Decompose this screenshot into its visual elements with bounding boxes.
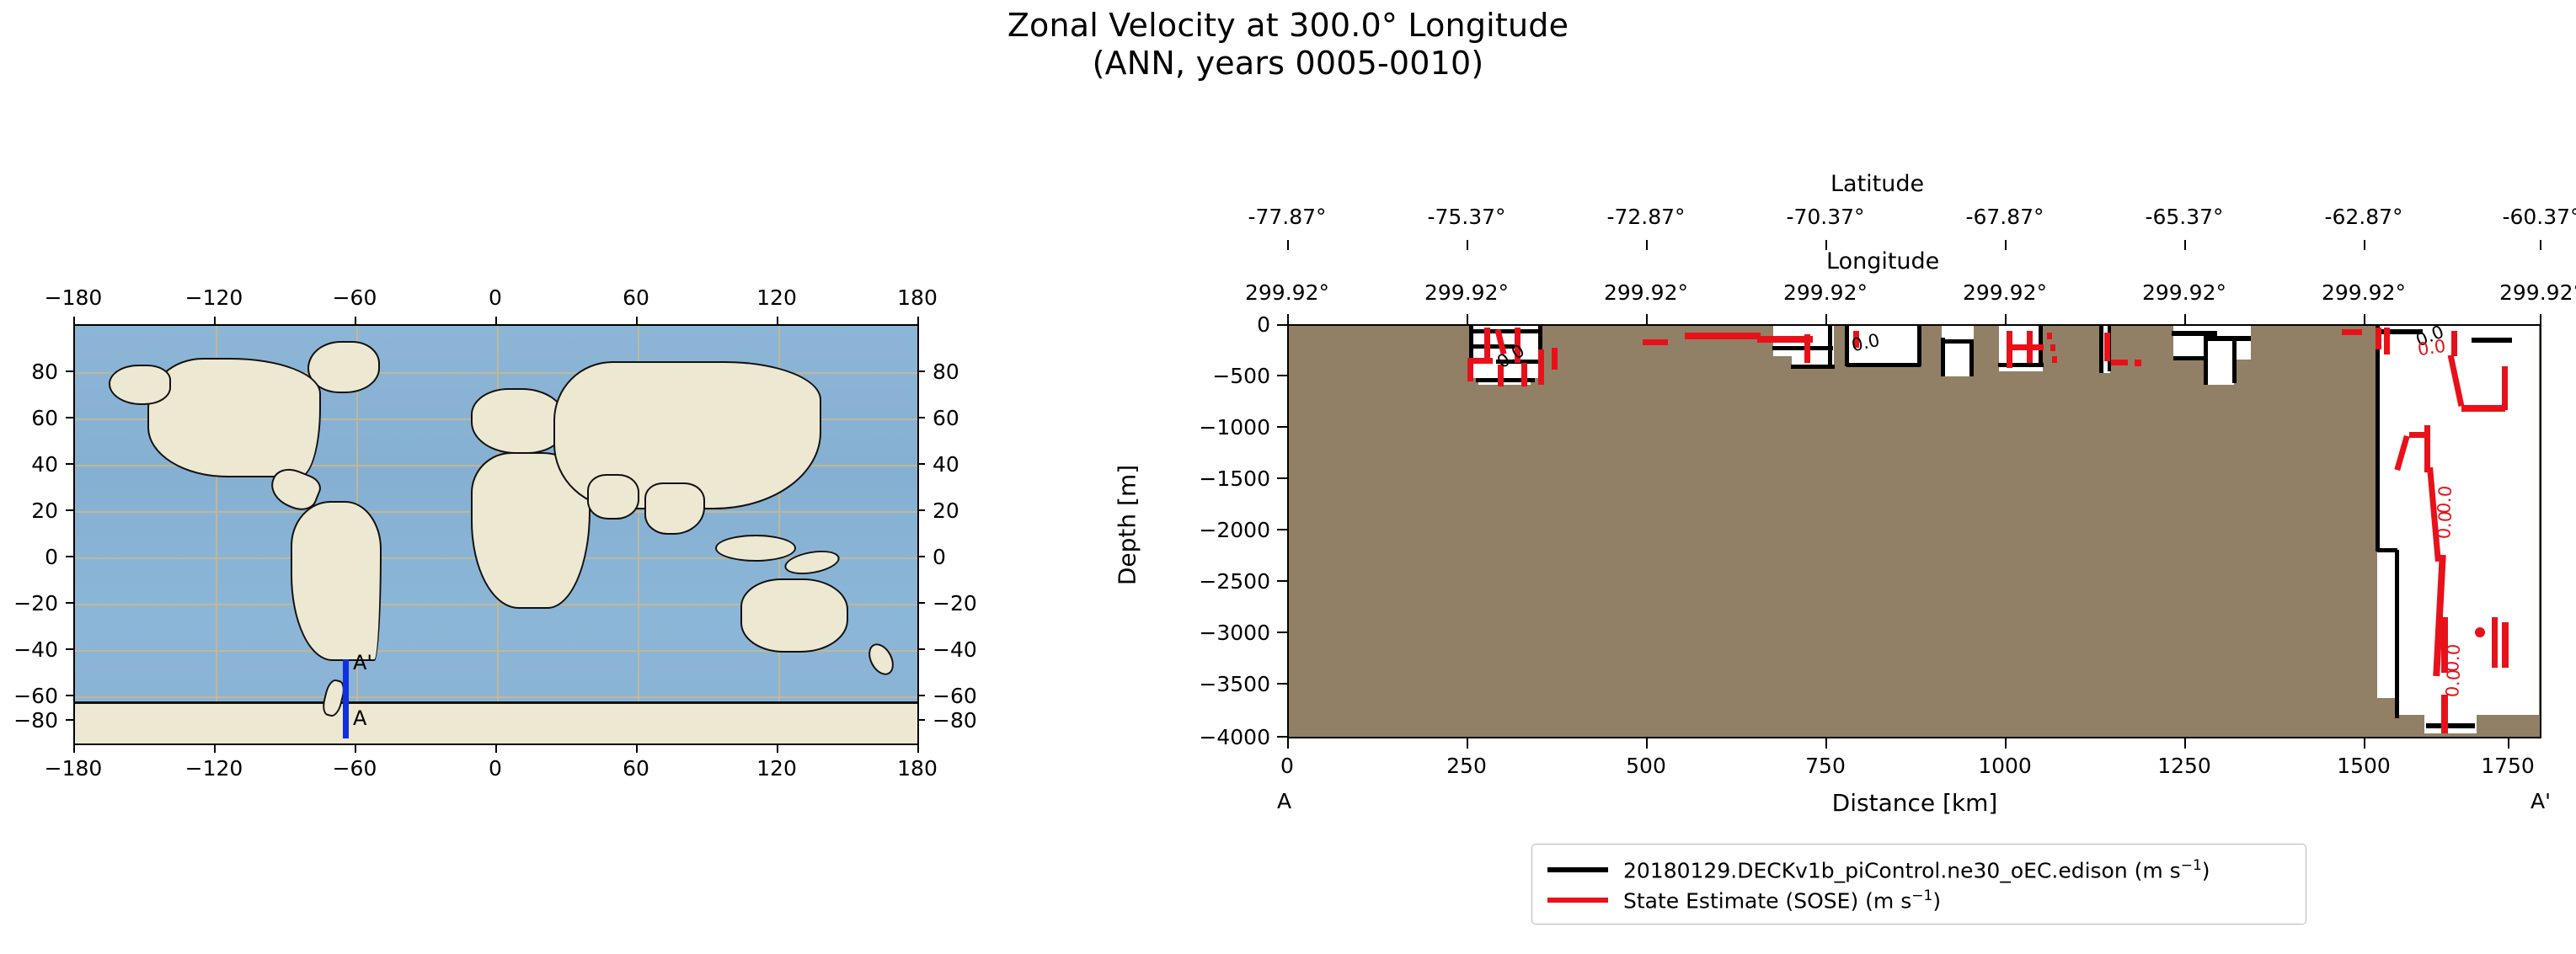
map-ytick-right-1: 60 xyxy=(933,406,959,430)
obs-contour-7 xyxy=(1521,363,1527,386)
distance-tickmark-4 xyxy=(2005,738,2007,749)
map-ytick-left-5: −20 xyxy=(0,591,58,616)
latitude-tickmark-2 xyxy=(1646,240,1648,250)
map-tick-top-4 xyxy=(636,317,638,324)
obs-contour-31 xyxy=(2409,432,2429,438)
longitude-tickmark-0 xyxy=(1287,314,1289,324)
map-xtick-top-2: −60 xyxy=(316,285,393,310)
map-tick-top-5 xyxy=(777,317,778,324)
map-transect-start-label: A xyxy=(353,706,366,730)
map-ytick-right-8: −80 xyxy=(933,708,977,733)
longitude-tickmark-5 xyxy=(2184,314,2186,324)
map-xtick-bottom-5: 120 xyxy=(738,756,815,781)
map-tick-top-6 xyxy=(917,317,919,324)
longitude-tick-3: 299.92° xyxy=(1750,280,1901,305)
map-xtick-bottom-3: 0 xyxy=(457,756,534,781)
latitude-tickmark-7 xyxy=(2540,240,2541,250)
legend-swatch-model-line xyxy=(1547,867,1608,872)
map-xtick-top-5: 120 xyxy=(738,285,815,310)
obs-contour-37 xyxy=(2475,627,2485,637)
map-tick-left-1 xyxy=(66,417,73,418)
latitude-tickmark-1 xyxy=(1467,240,1468,250)
model-contour-9 xyxy=(1791,365,1835,369)
distance-tick-1: 250 xyxy=(1399,754,1534,778)
distance-tick-0: 0 xyxy=(1220,754,1355,778)
distance-tickmark-0 xyxy=(1287,738,1289,749)
depth-tickmark-3 xyxy=(1277,477,1287,479)
longitude-tick-6: 299.92° xyxy=(2288,280,2440,305)
map-ytick-right-4: 0 xyxy=(933,545,946,569)
model-contour-12 xyxy=(1917,326,1921,366)
map-xtick-bottom-6: 180 xyxy=(879,756,956,781)
map-ytick-left-8: −80 xyxy=(0,708,58,733)
obs-contour-16 xyxy=(2007,344,2044,350)
obs-contour-17 xyxy=(2027,331,2033,363)
model-contour-7 xyxy=(1772,346,1833,350)
map-ytick-left-2: 40 xyxy=(6,452,58,477)
map-axes-frame: A' A xyxy=(73,324,919,745)
distance-tickmark-5 xyxy=(2184,738,2186,749)
map-tick-bottom-0 xyxy=(73,745,75,753)
latitude-tickmark-5 xyxy=(2184,240,2186,250)
plot-legend: 20180129.DECKv1b_piControl.ne30_oEC.edis… xyxy=(1531,844,2306,925)
map-tick-bottom-1 xyxy=(214,745,216,753)
map-ytick-left-1: 60 xyxy=(6,406,58,430)
model-contour-18 xyxy=(2099,326,2103,373)
distance-tick-5: 1250 xyxy=(2117,754,2252,778)
obs-contour-29 xyxy=(2502,366,2508,410)
legend-entry-model[interactable]: 20180129.DECKv1b_piControl.ne30_oEC.edis… xyxy=(1547,855,2290,885)
latitude-tick-2: -72.87° xyxy=(1570,205,1722,229)
distance-tickmark-2 xyxy=(1646,738,1648,749)
depth-tick-5: −2500 xyxy=(1136,569,1270,594)
map-tick-right-2 xyxy=(917,463,925,465)
land-indonesia xyxy=(715,535,796,562)
map-tick-left-2 xyxy=(66,463,73,465)
map-tick-right-6 xyxy=(917,648,925,650)
map-tick-right-3 xyxy=(917,509,925,511)
section-endpoint-a: A xyxy=(1277,789,1291,813)
depth-tick-7: −3500 xyxy=(1136,672,1270,696)
map-tick-bottom-5 xyxy=(777,745,778,753)
model-contour-10 xyxy=(1845,326,1849,366)
map-xtick-bottom-2: −60 xyxy=(316,756,393,781)
latitude-tick-1: -75.37° xyxy=(1391,205,1542,229)
land-europe xyxy=(471,388,565,454)
map-xtick-top-0: −180 xyxy=(35,285,112,310)
depth-tickmark-0 xyxy=(1277,324,1287,326)
model-contour-8 xyxy=(1828,326,1832,365)
depth-tickmark-1 xyxy=(1277,375,1287,376)
map-ytick-left-4: 0 xyxy=(6,545,58,569)
legend-label-model-tail: ) xyxy=(2202,858,2210,882)
depth-tickmark-6 xyxy=(1277,632,1287,633)
model-contour-27 xyxy=(2426,723,2475,728)
map-xtick-top-1: −120 xyxy=(175,285,253,310)
figure-title: Zonal Velocity at 300.0° Longitude (ANN,… xyxy=(0,7,2576,83)
section-axes-frame: 0.0 0.0 0.0 0.0 0.0 0.0 0.0 0.0 xyxy=(1287,324,2541,738)
longitude-tick-4: 299.92° xyxy=(1929,280,2081,305)
distance-axis-label: Distance [km] xyxy=(1759,789,2071,817)
longitude-tickmark-2 xyxy=(1646,314,1648,324)
latitude-tickmark-6 xyxy=(2364,240,2365,250)
transect-line xyxy=(343,659,349,738)
longitude-tick-0: 299.92° xyxy=(1211,280,1363,305)
map-tick-left-4 xyxy=(66,556,73,557)
obs-contour-39 xyxy=(2441,695,2448,733)
map-tick-right-4 xyxy=(917,556,925,557)
title-line-1: Zonal Velocity at 300.0° Longitude xyxy=(0,7,2576,45)
map-ytick-right-2: 40 xyxy=(933,452,959,477)
legend-label-model-exponent: −1 xyxy=(2181,857,2202,874)
latitude-tickmark-4 xyxy=(2005,240,2007,250)
depth-tick-2: −1000 xyxy=(1136,415,1270,440)
model-contour-15 xyxy=(1969,339,1974,376)
map-tick-bottom-4 xyxy=(636,745,638,753)
legend-label-sose-tail: ) xyxy=(1932,888,1941,913)
distance-tick-2: 500 xyxy=(1579,754,1713,778)
legend-swatch-sose-line xyxy=(1547,898,1608,903)
obs-contour-8 xyxy=(1538,349,1544,385)
map-xtick-bottom-1: −120 xyxy=(175,756,253,781)
distance-tick-3: 750 xyxy=(1758,754,1893,778)
depth-tick-3: −1500 xyxy=(1136,466,1270,491)
map-tick-right-5 xyxy=(917,602,925,604)
latitude-tickmark-0 xyxy=(1287,240,1289,250)
obs-contour-26 xyxy=(2451,331,2457,356)
latitude-tick-4: -67.87° xyxy=(1929,205,2081,229)
longitude-tickmark-4 xyxy=(2005,314,2007,324)
model-contour-22 xyxy=(2173,356,2207,360)
depth-tickmark-5 xyxy=(1277,580,1287,582)
obs-contour-24 xyxy=(2342,329,2362,335)
obs-contour-40 xyxy=(2376,328,2381,349)
map-tick-bottom-2 xyxy=(355,745,356,753)
depth-axis-label: Depth [m] xyxy=(1114,408,1141,643)
depth-tick-1: −500 xyxy=(1136,364,1270,388)
legend-label-sose-exponent: −1 xyxy=(1911,887,1932,904)
obs-contour-21 xyxy=(2104,333,2110,361)
obs-contour-13 xyxy=(1804,334,1810,363)
longitude-tickmark-1 xyxy=(1467,314,1468,324)
latitude-tick-7: -60.37° xyxy=(2466,205,2576,229)
map-ytick-right-6: −40 xyxy=(933,637,977,662)
model-contour-24 xyxy=(2232,341,2237,383)
model-contour-14 xyxy=(1943,339,1971,344)
obs-contour-23 xyxy=(2135,360,2141,366)
obs-contour-38 xyxy=(2502,622,2509,668)
model-contour-30 xyxy=(2377,548,2397,552)
land-north-america xyxy=(147,358,321,477)
map-tick-right-1 xyxy=(917,417,925,418)
obs-contour-9 xyxy=(1552,348,1558,370)
model-contour-11 xyxy=(1846,363,1921,367)
contour-label-3: 0.0 xyxy=(2417,338,2447,359)
distance-tickmark-7 xyxy=(2508,738,2509,749)
map-tick-left-8 xyxy=(66,719,73,721)
obs-contour-25 xyxy=(2384,328,2390,354)
model-contour-1 xyxy=(1471,329,1542,333)
map-ytick-right-7: −60 xyxy=(933,684,977,708)
obs-contour-1 xyxy=(1484,328,1490,358)
distance-tickmark-1 xyxy=(1467,738,1468,749)
obs-contour-5 xyxy=(1467,358,1493,364)
map-xtick-top-4: 60 xyxy=(597,285,675,310)
legend-label-model: 20180129.DECKv1b_piControl.ne30_oEC.edis… xyxy=(1623,857,2210,882)
map-tick-right-8 xyxy=(917,719,925,721)
map-tick-bottom-3 xyxy=(495,745,497,753)
map-tick-left-6 xyxy=(66,648,73,650)
land-south-america xyxy=(291,501,382,661)
map-xtick-top-3: 0 xyxy=(457,285,534,310)
latitude-tick-0: -77.87° xyxy=(1211,205,1363,229)
distance-tick-6: 1500 xyxy=(2296,754,2431,778)
map-xtick-top-6: 180 xyxy=(879,285,956,310)
section-endpoint-a-prime: A' xyxy=(2531,789,2551,813)
contour-label-7: 0.0 xyxy=(2444,669,2463,698)
longitude-tickmark-7 xyxy=(2540,314,2541,324)
depth-tickmark-2 xyxy=(1277,426,1287,428)
map-tick-left-3 xyxy=(66,509,73,511)
map-tick-top-2 xyxy=(355,317,356,324)
longitude-tick-5: 299.92° xyxy=(2108,280,2260,305)
model-contour-28 xyxy=(2376,326,2380,552)
land-antarctica xyxy=(73,701,919,745)
map-tick-top-0 xyxy=(73,317,75,324)
map-ytick-right-0: 80 xyxy=(933,360,959,384)
map-transect-end-label: A' xyxy=(353,651,372,674)
model-contour-23 xyxy=(2204,341,2208,385)
map-ytick-left-7: −60 xyxy=(0,684,58,708)
map-ytick-left-6: −40 xyxy=(0,637,58,662)
depth-tick-4: −2000 xyxy=(1136,518,1270,542)
longitude-tick-7: 299.92° xyxy=(2466,280,2576,305)
depth-tickmark-8 xyxy=(1277,736,1287,738)
obs-contour-22 xyxy=(2111,360,2128,365)
depth-tick-0: 0 xyxy=(1136,312,1270,337)
global-locator-map: A' A −180 −120 −60 0 60 120 180 −180 −12… xyxy=(73,324,919,745)
legend-label-model-main: 20180129.DECKv1b_piControl.ne30_oEC.edis… xyxy=(1623,858,2181,882)
longitude-tick-1: 299.92° xyxy=(1391,280,1542,305)
depth-tick-8: −4000 xyxy=(1136,725,1270,749)
secondary-axis-label-longitude: Longitude xyxy=(1826,248,1939,274)
model-contour-16 xyxy=(1998,363,2044,367)
map-gridline-lat-m60 xyxy=(75,696,917,698)
latitude-tick-6: -62.87° xyxy=(2288,205,2440,229)
map-ytick-right-3: 20 xyxy=(933,498,959,523)
distance-tickmark-3 xyxy=(1825,738,1827,749)
obs-contour-28 xyxy=(2461,405,2505,412)
figure-canvas: Zonal Velocity at 300.0° Longitude (ANN,… xyxy=(0,0,2576,954)
distance-tickmark-6 xyxy=(2364,738,2365,749)
depth-tick-6: −3000 xyxy=(1136,621,1270,645)
map-ytick-left-0: 80 xyxy=(6,360,58,384)
longitude-tickmark-3 xyxy=(1825,314,1827,324)
model-contour-29 xyxy=(2395,550,2399,718)
legend-entry-sose[interactable]: State Estimate (SOSE) (m s−1) xyxy=(1547,885,2290,915)
model-contour-26 xyxy=(2472,338,2512,343)
title-line-2: (ANN, years 0005-0010) xyxy=(0,45,2576,83)
map-xtick-bottom-0: −180 xyxy=(35,756,112,781)
land-arabia xyxy=(587,474,639,520)
obs-contour-36 xyxy=(2492,617,2498,668)
legend-label-sose: State Estimate (SOSE) (m s−1) xyxy=(1623,887,1941,913)
obs-contour-10 xyxy=(1643,339,1668,345)
map-tick-left-5 xyxy=(66,602,73,604)
map-ytick-left-3: 20 xyxy=(6,498,58,523)
land-australia xyxy=(740,578,848,653)
longitude-tickmark-6 xyxy=(2364,314,2365,324)
obs-contour-11 xyxy=(1685,333,1761,339)
model-contour-21 xyxy=(2204,336,2251,341)
latitude-tick-3: -70.37° xyxy=(1750,205,1901,229)
map-tick-bottom-6 xyxy=(917,745,919,753)
depth-tickmark-4 xyxy=(1277,529,1287,530)
cross-section-plot: Latitude -77.87° -75.37° -72.87° -70.37°… xyxy=(1287,324,2541,738)
map-ytick-right-5: −20 xyxy=(933,591,977,616)
contour-label-5: 0.0 xyxy=(2435,510,2455,540)
obs-contour-18 xyxy=(2047,333,2052,339)
map-tick-left-0 xyxy=(66,370,73,372)
obs-contour-20 xyxy=(2052,356,2057,363)
map-tick-right-7 xyxy=(917,695,925,696)
map-tick-right-0 xyxy=(917,370,925,372)
map-tick-left-7 xyxy=(66,695,73,696)
longitude-tick-2: 299.92° xyxy=(1570,280,1722,305)
map-xtick-bottom-4: 60 xyxy=(597,756,675,781)
legend-label-sose-main: State Estimate (SOSE) (m s xyxy=(1623,888,1911,913)
distance-tick-7: 1750 xyxy=(2440,754,2575,778)
latitude-tick-5: -65.37° xyxy=(2108,205,2260,229)
land-alaska xyxy=(109,365,171,405)
map-tick-top-3 xyxy=(495,317,497,324)
distance-tick-4: 1000 xyxy=(1937,754,2072,778)
map-tick-top-1 xyxy=(214,317,216,324)
depth-tickmark-7 xyxy=(1277,683,1287,685)
obs-contour-19 xyxy=(2050,344,2055,351)
secondary-axis-label-latitude: Latitude xyxy=(1830,171,1924,197)
